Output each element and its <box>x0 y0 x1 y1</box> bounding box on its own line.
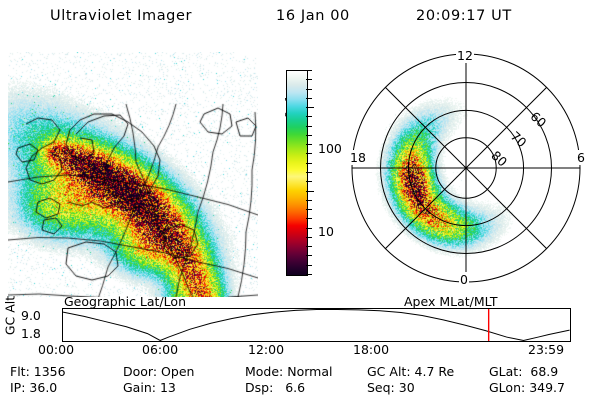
status-ip: IP: 36.0 <box>10 380 57 395</box>
mlt-label-18: 18 <box>349 150 367 165</box>
strip-ytick-high: 9.0 <box>21 308 41 323</box>
strip-chart-svg <box>63 309 570 341</box>
strip-chart-plot-area[interactable] <box>62 308 571 342</box>
polar-dial-panel[interactable]: 607080 12 18 6 0 <box>348 50 594 298</box>
status-seq: Seq: 30 <box>367 380 415 395</box>
status-door-value: Open <box>161 364 194 379</box>
status-panel: Flt: 1356 Door: Open Mode: Normal GC Alt… <box>0 364 600 398</box>
status-glon-value: 349.7 <box>529 380 565 395</box>
status-mode-value: Normal <box>287 364 332 379</box>
status-dsp-label: Dsp: <box>245 380 273 395</box>
polar-dial-svg[interactable]: 607080 <box>348 50 594 298</box>
gc-alt-trace <box>63 310 570 341</box>
strip-y-axis-label: GC Alt <box>3 293 18 339</box>
status-glat-value: 68.9 <box>530 364 558 379</box>
status-gcalt-label: GC Alt: <box>367 364 411 379</box>
status-seq-label: Seq: <box>367 380 395 395</box>
status-flt-value: 1356 <box>34 364 66 379</box>
status-flt-label: Flt: <box>10 364 30 379</box>
status-glon: GLon: 349.7 <box>489 380 565 395</box>
status-gain-label: Gain: <box>123 380 156 395</box>
strip-chart-panel[interactable]: Geographic Lat/Lon Apex MLat/MLT GC Alt … <box>0 296 600 358</box>
status-mode: Mode: Normal <box>245 364 333 379</box>
colorbar-gradient <box>286 70 308 276</box>
status-ip-value: 36.0 <box>29 380 57 395</box>
aurora-image-panel[interactable] <box>8 52 258 297</box>
aurora-image-canvas[interactable] <box>8 52 258 297</box>
colorbar-label-10: 10 <box>318 224 334 239</box>
status-door: Door: Open <box>123 364 194 379</box>
observation-time: 20:09:17 UT <box>416 8 512 24</box>
status-ip-label: IP: <box>10 380 25 395</box>
status-flt: Flt: 1356 <box>10 364 66 379</box>
header-bar: Ultraviolet Imager 16 Jan 00 20:09:17 UT <box>0 6 600 30</box>
status-gain: Gain: 13 <box>123 380 176 395</box>
instrument-title: Ultraviolet Imager <box>50 8 192 24</box>
strip-title-geographic: Geographic Lat/Lon <box>64 294 186 309</box>
mlt-label-12: 12 <box>456 48 474 63</box>
strip-xtick-1800: 18:00 <box>353 342 389 357</box>
status-gcalt-value: 4.7 Re <box>415 364 455 379</box>
strip-title-apex: Apex MLat/MLT <box>404 294 498 309</box>
status-glat-label: GLat: <box>489 364 522 379</box>
status-glon-label: GLon: <box>489 380 525 395</box>
strip-xtick-0000: 00:00 <box>38 342 74 357</box>
mlt-label-0: 0 <box>459 272 469 287</box>
status-mode-label: Mode: <box>245 364 283 379</box>
strip-ytick-low: 1.8 <box>21 326 41 341</box>
colorbar-ticks <box>306 70 314 274</box>
status-gcalt: GC Alt: 4.7 Re <box>367 364 454 379</box>
observation-date: 16 Jan 00 <box>276 8 350 24</box>
strip-xtick-0600: 06:00 <box>142 342 178 357</box>
status-gain-value: 13 <box>160 380 176 395</box>
status-glat: GLat: 68.9 <box>489 364 558 379</box>
status-dsp-value: 6.6 <box>285 380 305 395</box>
status-dsp: Dsp: 6.6 <box>245 380 305 395</box>
colorbar-label-100: 100 <box>318 141 342 156</box>
colorbar-panel: photon cm-2s-1 100 10 <box>264 62 354 297</box>
strip-xtick-2359: 23:59 <box>528 342 564 357</box>
status-door-label: Door: <box>123 364 157 379</box>
status-seq-value: 30 <box>399 380 415 395</box>
strip-xtick-1200: 12:00 <box>248 342 284 357</box>
mlt-label-6: 6 <box>576 150 586 165</box>
